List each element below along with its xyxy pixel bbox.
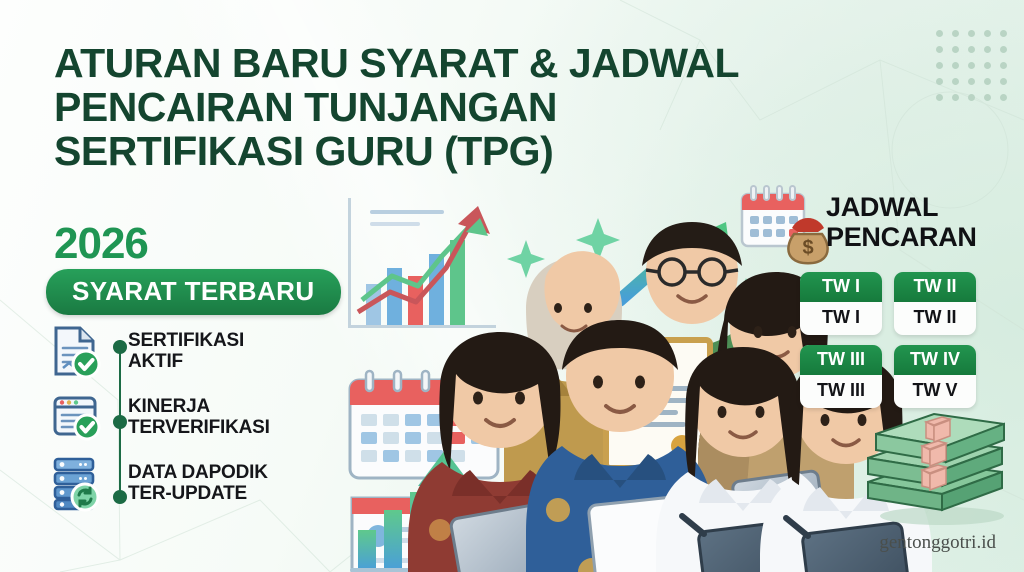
list-item: DATA DAPODIKTER-UPDATE xyxy=(46,450,346,516)
schedule-card-body: TW III xyxy=(800,375,882,408)
page-title: ATURAN BARU SYARAT & JADWAL PENCAIRAN TU… xyxy=(54,42,934,174)
requirement-label: DATA DAPODIKTER-UPDATE xyxy=(128,462,268,505)
schedule-title: JADWAL PENCARAN xyxy=(826,192,977,252)
schedule-card-tw2[interactable]: TW II TW II xyxy=(894,272,976,335)
requirement-label: KINERJATERVERIFIKASI xyxy=(128,396,270,439)
schedule-card-body: TW II xyxy=(894,302,976,335)
schedule-card-header: TW I xyxy=(800,272,882,302)
headline-line-3: SERTIFIKASI GURU (TPG) xyxy=(54,130,934,174)
schedule-title-line-1: JADWAL xyxy=(826,192,977,222)
dot-grid-decoration xyxy=(936,30,1007,101)
requirement-label: SERTIFIKASIAKTIF xyxy=(128,330,244,373)
schedule-card-tw4[interactable]: TW IV TW V xyxy=(894,345,976,408)
schedule-card-body: TW V xyxy=(894,375,976,408)
schedule-card-header: TW II xyxy=(894,272,976,302)
server-sync-icon xyxy=(46,455,106,511)
headline-line-2: PENCAIRAN TUNJANGAN xyxy=(54,86,934,130)
requirements-list: SERTIFIKASIAKTIF KINERJ xyxy=(46,318,346,516)
schedule-card-header: TW III xyxy=(800,345,882,375)
svg-text:$: $ xyxy=(802,237,813,259)
schedule-card-tw1[interactable]: TW I TW I xyxy=(800,272,882,335)
calendar-money-icon: $ xyxy=(736,180,828,268)
schedule-card-body: TW I xyxy=(800,302,882,335)
window-check-icon xyxy=(46,393,106,441)
money-stack-graphic xyxy=(858,408,1014,526)
list-item: KINERJATERVERIFIKASI xyxy=(46,384,346,450)
document-check-icon xyxy=(46,324,106,378)
schedule-card-grid: TW I TW I TW II TW II TW III TW III TW I… xyxy=(800,272,976,408)
status-badge: SYARAT TERBARU xyxy=(46,269,341,315)
schedule-title-line-2: PENCARAN xyxy=(826,222,977,252)
headline-line-1: ATURAN BARU SYARAT & JADWAL xyxy=(54,42,934,86)
growth-chart-graphic xyxy=(348,198,496,328)
schedule-card-tw3[interactable]: TW III TW III xyxy=(800,345,882,408)
watermark: gentonggotri.id xyxy=(879,532,996,554)
list-item: SERTIFIKASIAKTIF xyxy=(46,318,346,384)
year-label: 2026 xyxy=(54,222,148,266)
infographic-poster: ATURAN BARU SYARAT & JADWAL PENCAIRAN TU… xyxy=(0,0,1024,572)
schedule-card-header: TW IV xyxy=(894,345,976,375)
